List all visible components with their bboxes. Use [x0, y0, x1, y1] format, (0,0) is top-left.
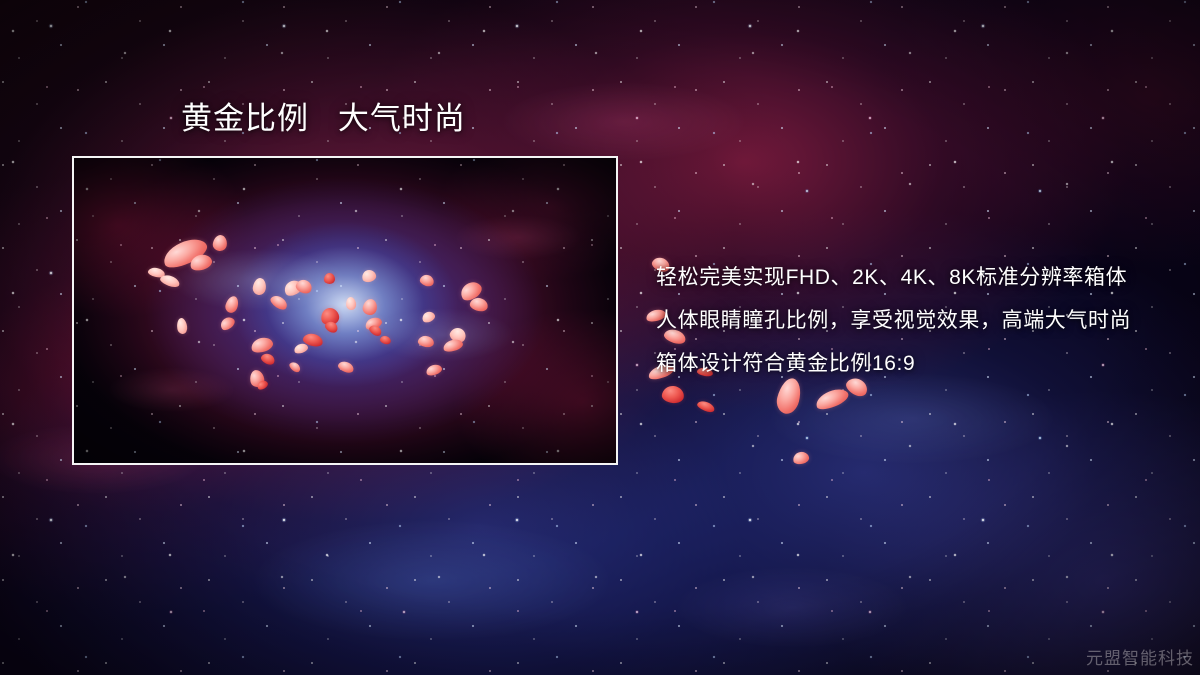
body-text-block: 轻松完美实现FHD、2K、4K、8K标准分辨率箱体人体眼睛瞳孔比例，享受视觉效果… [656, 256, 1176, 385]
inner-vignette [74, 158, 616, 463]
watermark: 元盟智能科技 [1086, 644, 1194, 669]
petal [661, 385, 685, 404]
framed-nebula-image [72, 156, 618, 465]
petal [792, 450, 810, 465]
body-text-line: 人体眼睛瞳孔比例，享受视觉效果，高端大气时尚 [656, 299, 1176, 342]
slide-canvas: 黄金比例 大气时尚 轻松完美实现FHD、2K、4K、8K标准分辨率箱体人体眼睛瞳… [0, 0, 1200, 675]
body-text-line: 箱体设计符合黄金比例16:9 [656, 342, 1176, 385]
page-title: 黄金比例 大气时尚 [181, 102, 466, 135]
body-text-line: 轻松完美实现FHD、2K、4K、8K标准分辨率箱体 [656, 256, 1176, 299]
petal [813, 385, 851, 413]
petal [696, 399, 716, 414]
